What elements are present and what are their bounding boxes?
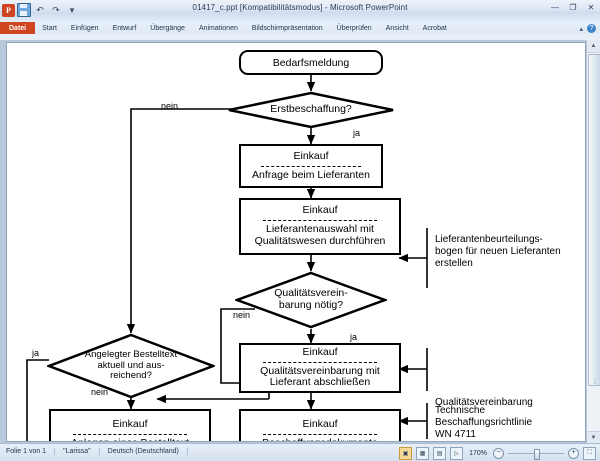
node-label: Qualitätsverein- barung nötig? [235,271,387,329]
slide-sorter-view-button[interactable]: ▦ [416,447,429,460]
window-controls[interactable]: — ❐ ✕ [549,3,597,12]
reading-view-button[interactable]: ▤ [433,447,446,460]
tab-datei[interactable]: Datei [0,22,35,34]
scroll-split-handle[interactable]: ⋮ [592,381,598,384]
scroll-up-arrow[interactable]: ▲ [587,40,600,53]
tab-acrobat[interactable]: Acrobat [416,22,454,34]
node-divider [73,434,187,435]
normal-view-button[interactable]: ▣ [399,447,412,460]
node-body: Beschaffungsdokumente [259,438,380,443]
title-bar: P ↶ ↷ ▾ 01417_c.ppt [Kompatibilitätsmodu… [0,0,600,23]
zoom-out-button[interactable]: − [493,448,504,459]
minimize-button[interactable]: — [549,3,561,12]
node-role: Einkauf [302,347,337,359]
tab-uebergaenge[interactable]: Übergänge [143,22,192,34]
node-divider [261,166,362,167]
node-label: Bedarfsmeldung [273,57,349,69]
zoom-slider[interactable] [508,449,564,458]
language-label[interactable]: Deutsch (Deutschland) [100,448,188,455]
node-divider [263,434,377,435]
node-divider [263,362,377,363]
slideshow-view-button[interactable]: ▷ [450,447,463,460]
tab-ansicht[interactable]: Ansicht [379,22,416,34]
zoom-slider-handle[interactable] [534,449,540,460]
flowchart-node-lieferantenauswahl[interactable]: Einkauf Lieferantenauswahl mit Qualitäts… [239,198,401,255]
edge-label-nein-erstbeschaffung: nein [161,101,178,111]
flowchart-node-anfrage[interactable]: Einkauf Anfrage beim Lieferanten [239,144,383,188]
edge-label-nein-bestelltext: nein [91,387,108,397]
node-role: Einkauf [302,205,337,217]
scroll-thumb[interactable] [588,54,600,386]
slide-work-area: Bedarfsmeldung Erstbeschaffung? Einkauf … [0,40,600,444]
tab-entwurf[interactable]: Entwurf [106,22,144,34]
note-lieferantenbeurteilungsbogen: Lieferantenbeurteilungs- bogen für neuen… [435,234,581,269]
theme-label[interactable]: "Larissa" [55,448,100,455]
tab-einfuegen[interactable]: Einfügen [64,22,106,34]
slide-count-label: Folie 1 von 1 [6,448,55,455]
node-role: Einkauf [293,151,328,163]
fit-to-window-button[interactable]: ⛶ [583,447,596,460]
tab-animationen[interactable]: Animationen [192,22,245,34]
node-body: Anlegen eines Bestelltext [68,438,192,443]
help-icon[interactable]: ? [587,24,596,33]
node-body: Lieferantenauswahl mit Qualitätswesen du… [241,224,399,248]
edge-label-nein-qualitaetsvereinbarung: nein [233,310,250,320]
flowchart-node-bestelltext-anlegen[interactable]: Einkauf Anlegen eines Bestelltext [49,409,211,442]
vertical-scrollbar[interactable]: ▲ ⋮ ▼ [586,40,600,444]
node-label: Erstbeschaffung? [227,91,395,129]
powerpoint-window: P ↶ ↷ ▾ 01417_c.ppt [Kompatibilitätsmodu… [0,0,600,461]
edge-label-ja-qualitaetsvereinbarung: ja [350,332,357,342]
flowchart-decision-erstbeschaffung[interactable]: Erstbeschaffung? [227,91,395,129]
tab-start[interactable]: Start [35,22,64,34]
restore-button[interactable]: ❐ [567,3,579,12]
collapse-ribbon-icon[interactable]: ▴ [579,25,583,33]
slide-pane[interactable]: Bedarfsmeldung Erstbeschaffung? Einkauf … [6,42,586,442]
zoom-in-button[interactable]: + [568,448,579,459]
flowchart-node-start[interactable]: Bedarfsmeldung [239,50,383,75]
tab-ueberpruefen[interactable]: Überprüfen [330,22,379,34]
flowchart-decision-bestelltext[interactable]: Angelegter Bestelltext aktuell und aus- … [47,333,215,399]
zoom-level-label[interactable]: 170% [467,450,489,457]
node-body: Anfrage beim Lieferanten [249,170,373,182]
edge-label-ja-bestelltext: ja [32,348,39,358]
note-technische-beschaffungsrichtlinie: Technische Beschaffungsrichtlinie WN 471… [435,405,581,440]
edge-label-ja-erstbeschaffung: ja [353,128,360,138]
window-title: 01417_c.ppt [Kompatibilitätsmodus] - Mic… [0,3,600,12]
flowchart-node-qualitaetsvereinbarung-abschliessen[interactable]: Einkauf Qualitätsvereinbarung mit Liefer… [239,343,401,393]
flowchart-node-beschaffungsdokumente[interactable]: Einkauf Beschaffungsdokumente [239,409,401,442]
slide-canvas[interactable]: Bedarfsmeldung Erstbeschaffung? Einkauf … [7,43,585,441]
node-body: Qualitätsvereinbarung mit Lieferant absc… [241,366,399,390]
node-label: Angelegter Bestelltext aktuell und aus- … [47,333,215,399]
node-role: Einkauf [112,419,147,431]
flowchart-decision-qualitaetsvereinbarung[interactable]: Qualitätsverein- barung nötig? [235,271,387,329]
node-divider [263,220,377,221]
tab-bildschirmpraesentation[interactable]: Bildschirmpräsentation [245,22,330,34]
close-button[interactable]: ✕ [585,3,597,12]
node-role: Einkauf [302,419,337,431]
status-bar: Folie 1 von 1 "Larissa" Deutsch (Deutsch… [0,443,600,461]
